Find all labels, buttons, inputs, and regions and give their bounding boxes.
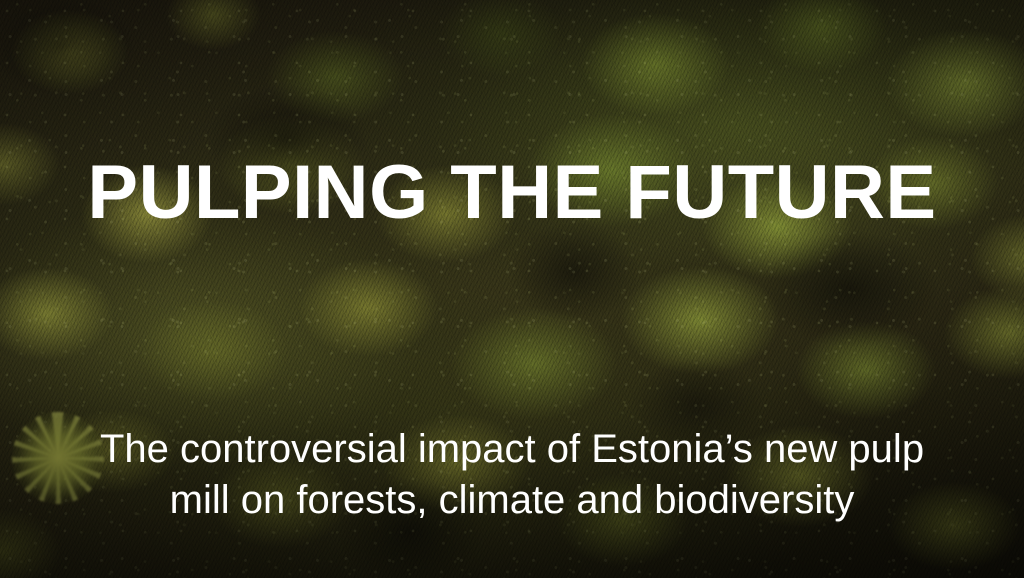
slide-title: PULPING THE FUTURE: [0, 155, 1024, 231]
slide-subtitle: The controversial impact of Estonia’s ne…: [72, 424, 952, 526]
title-slide: PULPING THE FUTURE The controversial imp…: [0, 0, 1024, 578]
slide-text-layer: PULPING THE FUTURE The controversial imp…: [0, 0, 1024, 578]
